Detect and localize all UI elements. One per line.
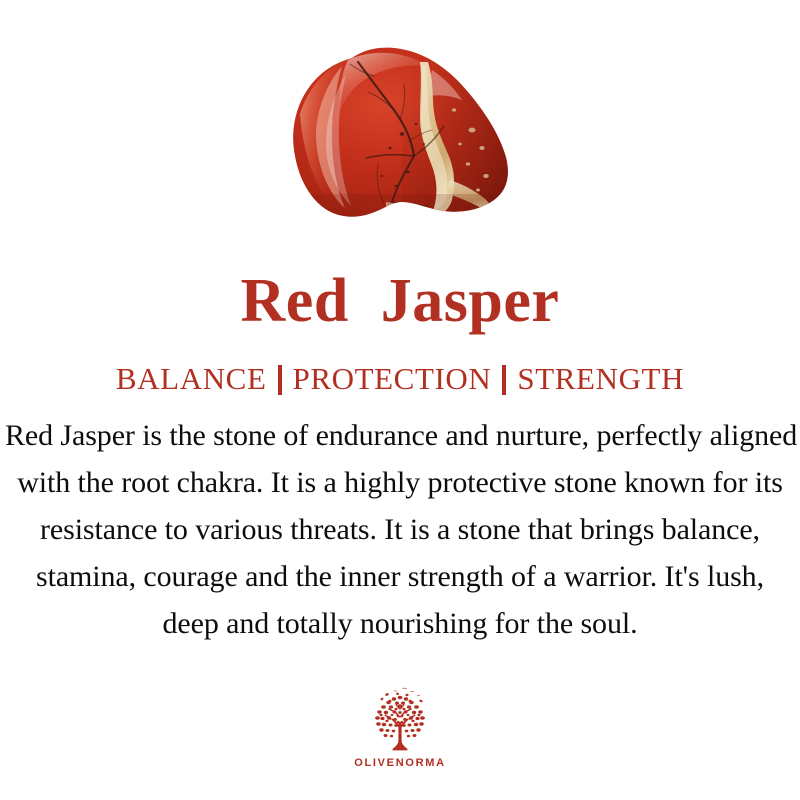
keyword-separator-2 — [502, 365, 506, 395]
keyword-balance: BALANCE — [116, 363, 267, 394]
description-line: Red Jasper is the stone of endurance and… — [5, 412, 795, 459]
keyword-separator-1 — [278, 365, 282, 395]
description-text: Red Jasper is the stone of endurance and… — [5, 394, 795, 647]
brand-wordmark: OLIVENORMA — [354, 758, 446, 769]
keyword-protection: PROTECTION — [293, 363, 492, 394]
description-line: deep and totally nourishing for the soul… — [5, 600, 795, 647]
product-info-card: Red Jasper BALANCE PROTECTION STRENGTH R… — [0, 0, 800, 800]
olive-tree-icon — [361, 684, 439, 754]
brand-logo[interactable]: OLIVENORMA — [0, 684, 800, 769]
hero-image-area — [0, 0, 800, 268]
description-line: resistance to various threats. It is a s… — [5, 506, 795, 553]
keyword-strength: STRENGTH — [517, 363, 684, 394]
page-title: Red Jasper — [241, 268, 560, 332]
description-line: stamina, courage and the inner strength … — [5, 553, 795, 600]
description-line: with the root chakra. It is a highly pro… — [5, 459, 795, 506]
red-jasper-stone-image — [282, 44, 532, 230]
keyword-strip: BALANCE PROTECTION STRENGTH — [116, 332, 684, 394]
